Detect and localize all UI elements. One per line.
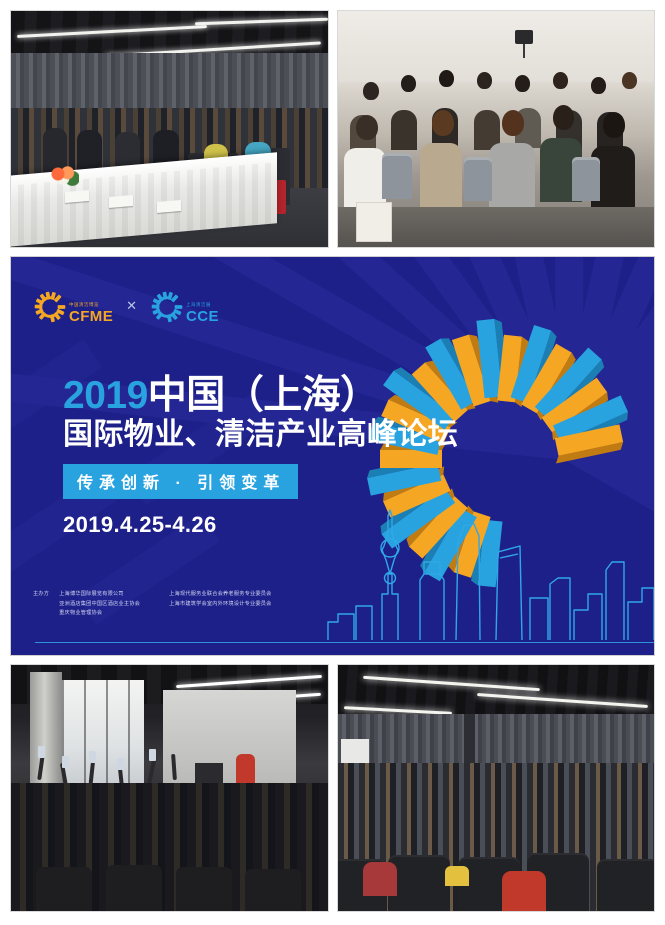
poster-page: 会场主席台与观众席 — [0, 0, 665, 925]
theater-seat — [36, 867, 92, 911]
cfme-logo-cn: 中国清洁博览 — [69, 303, 113, 307]
person-head — [515, 75, 530, 92]
logo-separator-icon: ✕ — [126, 298, 137, 314]
person-body — [420, 143, 462, 207]
folding-chair — [464, 157, 492, 201]
cfme-logo-en: CFME — [69, 309, 113, 324]
organizer-item: 重庆物业管理协会 — [59, 609, 159, 619]
organizer-column-1: 上海博华国际展览有限公司 亚洲酒店集团中国区酒店业主协会 重庆物业管理协会 — [59, 590, 159, 619]
person-yellow-scarf — [445, 866, 469, 886]
person-head — [502, 110, 524, 136]
cfme-swirl-logo-icon — [33, 290, 67, 324]
person-head — [622, 72, 637, 89]
photo-top-right: 论坛观众就座听讲 — [337, 10, 656, 248]
theater-seat — [176, 867, 232, 911]
person-body — [391, 110, 417, 150]
window-wall — [62, 680, 144, 788]
name-card — [65, 190, 89, 203]
organizer-item: 上海博华国际展览有限公司 — [59, 590, 159, 600]
poster-baseline-rule — [35, 642, 654, 643]
theater-seat — [597, 859, 655, 911]
organizer-item: 上海现代服务业联合会养老服务专业委员会 — [169, 590, 271, 600]
logo-lockup: 中国清洁博览 CFME ✕ — [33, 290, 219, 324]
concrete-pillar — [30, 672, 62, 795]
organizer-column-2: 上海现代服务业联合会养老服务专业委员会 上海市建筑学会室内外环境设计专业委员会 — [169, 590, 271, 619]
smartphone — [117, 758, 124, 770]
smartphone — [149, 749, 156, 761]
organizer-item: 亚洲酒店集团中国区酒店业主协会 — [59, 600, 159, 610]
theater-seat — [106, 865, 162, 911]
name-card — [109, 195, 133, 208]
person-head — [553, 72, 568, 89]
name-card — [157, 200, 181, 213]
cce-logo[interactable]: 上海清洁展 CCE — [150, 290, 219, 324]
person-head — [591, 77, 606, 94]
person-body — [344, 148, 386, 210]
person-head — [356, 115, 378, 140]
cce-logo-cn: 上海清洁展 — [186, 303, 219, 307]
person-head — [439, 70, 454, 87]
cce-swirl-logo-icon — [150, 290, 184, 324]
smartphone — [38, 746, 45, 758]
photo-bottom-left: 演讲环节观众举手拍照 — [10, 664, 329, 912]
photo-row-top: 会场主席台与观众席 — [10, 10, 655, 248]
photo-row-bottom: 演讲环节观众举手拍照 大会场满座观众 — [10, 664, 655, 912]
tote-bag — [356, 202, 392, 242]
ceiling-speaker — [515, 30, 533, 44]
cce-logo-en: CCE — [186, 309, 219, 324]
event-poster-banner: 中国清洁博览 CFME ✕ — [10, 256, 655, 656]
title-line-1: 2019中国（上海） — [63, 375, 458, 416]
poster-tagline: 传承创新 · 引领变革 — [63, 464, 298, 499]
projection-screen — [163, 690, 296, 793]
organizer-item: 上海市建筑学会室内外环境设计专业委员会 — [169, 600, 271, 610]
person-head — [477, 72, 492, 89]
title-main: 中国（上海） — [148, 374, 379, 417]
theater-seat — [245, 869, 301, 911]
person-head — [363, 82, 379, 100]
title-subtitle: 国际物业、清洁产业高峰论坛 — [63, 416, 458, 454]
cfme-logo[interactable]: 中国清洁博览 CFME — [33, 290, 113, 324]
flower-arrangement — [49, 166, 79, 186]
photo-top-left: 会场主席台与观众席 — [10, 10, 329, 248]
person-head — [432, 110, 454, 136]
person-head — [553, 105, 574, 130]
photo-bottom-right: 大会场满座观众 — [337, 664, 656, 912]
organizer-label: 主办方 — [33, 590, 49, 619]
person-plaid-shirt — [363, 862, 397, 896]
back-wall — [338, 11, 655, 82]
theater-seat — [388, 855, 450, 911]
poster-dates: 2019.4.25-4.26 — [63, 512, 458, 538]
person-body — [489, 143, 535, 209]
folding-chair — [382, 153, 412, 199]
person-head — [401, 75, 416, 92]
title-year: 2019 — [63, 374, 148, 417]
poster-title-block: 2019中国（上海） 国际物业、清洁产业高峰论坛 传承创新 · 引领变革 201… — [63, 375, 458, 538]
organizers-block: 主办方 上海博华国际展览有限公司 亚洲酒店集团中国区酒店业主协会 重庆物业管理协… — [33, 590, 272, 619]
person-red-shirt — [502, 871, 546, 911]
folding-chair — [572, 157, 600, 201]
smartphone — [89, 751, 96, 763]
smartphone — [62, 756, 69, 768]
